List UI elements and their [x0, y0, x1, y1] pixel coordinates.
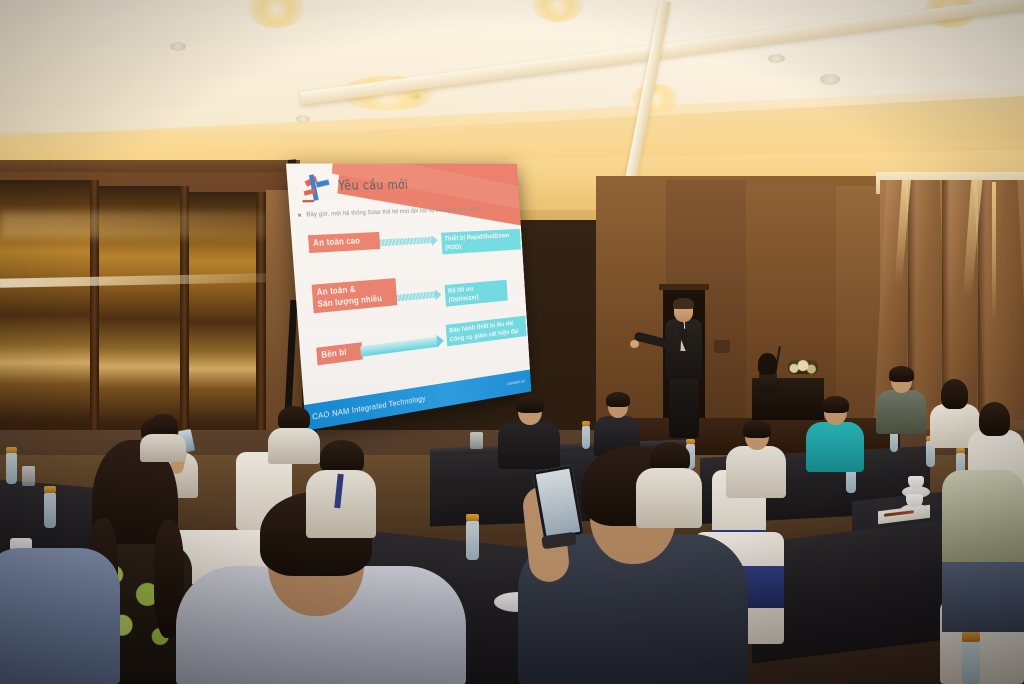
slide-arrow-2 — [397, 291, 437, 301]
audience-member — [0, 548, 120, 684]
bottle-cap — [962, 632, 980, 642]
audience-member — [876, 368, 926, 432]
attendee-hair — [278, 406, 310, 430]
audience-member — [942, 470, 1024, 630]
slide-footer-text: CAO NAM Integrated Technology — [312, 393, 426, 421]
water-bottle — [6, 452, 17, 484]
presenter-legs — [669, 376, 699, 438]
cao-nam-logo-icon — [299, 173, 334, 205]
slide-right-box-1: Thiết bị RapidShutDown (RSD) — [441, 229, 521, 255]
slide-left-box-3: Bền bỉ — [316, 342, 363, 365]
drinking-glass — [470, 432, 483, 449]
slide-left-box-1: An toàn cao — [308, 232, 380, 253]
flower-arrangement — [788, 360, 818, 374]
attendee-body — [876, 390, 926, 434]
attendee-hair — [743, 420, 771, 438]
audience-member — [306, 440, 376, 536]
slide-canvas: Yêu cầu mới Bây giờ, một hệ thống Solar … — [286, 164, 531, 431]
attendee-jeans — [942, 562, 1024, 632]
sprinkler-head — [296, 115, 310, 123]
slide-right-box-3: Bảo hành thiết bị lâu dài Công cụ giám s… — [446, 316, 527, 347]
ceiling-speaker — [768, 54, 785, 63]
slide-left-box-2: An toàn & Sản lượng nhiều — [312, 278, 398, 313]
slide-footer-url: caonam.vn — [507, 379, 526, 387]
bullet-label: Bây giờ, một hệ thống Solar thế hệ mới đ… — [306, 206, 481, 218]
water-bottle — [44, 492, 56, 528]
door-frame — [659, 284, 709, 290]
wall-led-strip — [992, 182, 996, 322]
smoke-detector — [170, 42, 186, 51]
presenter-hand — [630, 340, 639, 348]
attendee-hair — [941, 379, 968, 409]
bronze-reflection — [0, 212, 266, 238]
attendee-body — [636, 468, 702, 528]
attendee-hair — [516, 395, 544, 413]
audience-member — [518, 438, 748, 684]
water-bottle — [962, 640, 980, 684]
attendee-body — [0, 548, 120, 684]
attendee-body — [942, 470, 1024, 566]
slide-title: Yêu cầu mới — [338, 179, 409, 194]
bullet-marker — [298, 214, 301, 217]
attendee-hair — [606, 392, 630, 407]
projected-slide: Yêu cầu mới Bây giờ, một hệ thống Solar … — [286, 164, 531, 431]
water-bottle — [466, 520, 479, 560]
attendee-body — [140, 434, 186, 462]
bottle-cap — [44, 486, 56, 493]
attendee-hair — [979, 402, 1010, 436]
attendee-body — [806, 422, 864, 472]
audience-member — [140, 414, 186, 460]
wall-scuff — [714, 340, 730, 353]
microphone-icon — [679, 322, 684, 334]
presenter — [652, 300, 716, 440]
attendee-hair — [320, 440, 364, 474]
attendee-hair — [822, 396, 849, 413]
slide-right-box-2: Bộ tối ưu (Optimizer) — [445, 280, 508, 307]
ceiling-speaker — [820, 74, 840, 85]
bottle-cap — [582, 421, 590, 426]
slide-arrow-3 — [360, 337, 438, 357]
conference-room-scene: Yêu cầu mới Bây giờ, một hệ thống Solar … — [0, 0, 1024, 684]
audience-member — [806, 398, 864, 470]
woman-at-lectern-hair — [758, 353, 777, 375]
drinking-glass — [22, 466, 35, 486]
audience-member — [636, 442, 702, 526]
slide-arrow-1 — [380, 237, 433, 246]
presenter-hair — [673, 298, 694, 309]
bottle-cap — [956, 448, 965, 453]
attendee-hair — [889, 366, 914, 382]
bottle-cap — [466, 514, 479, 521]
bottle-cap — [6, 447, 17, 453]
